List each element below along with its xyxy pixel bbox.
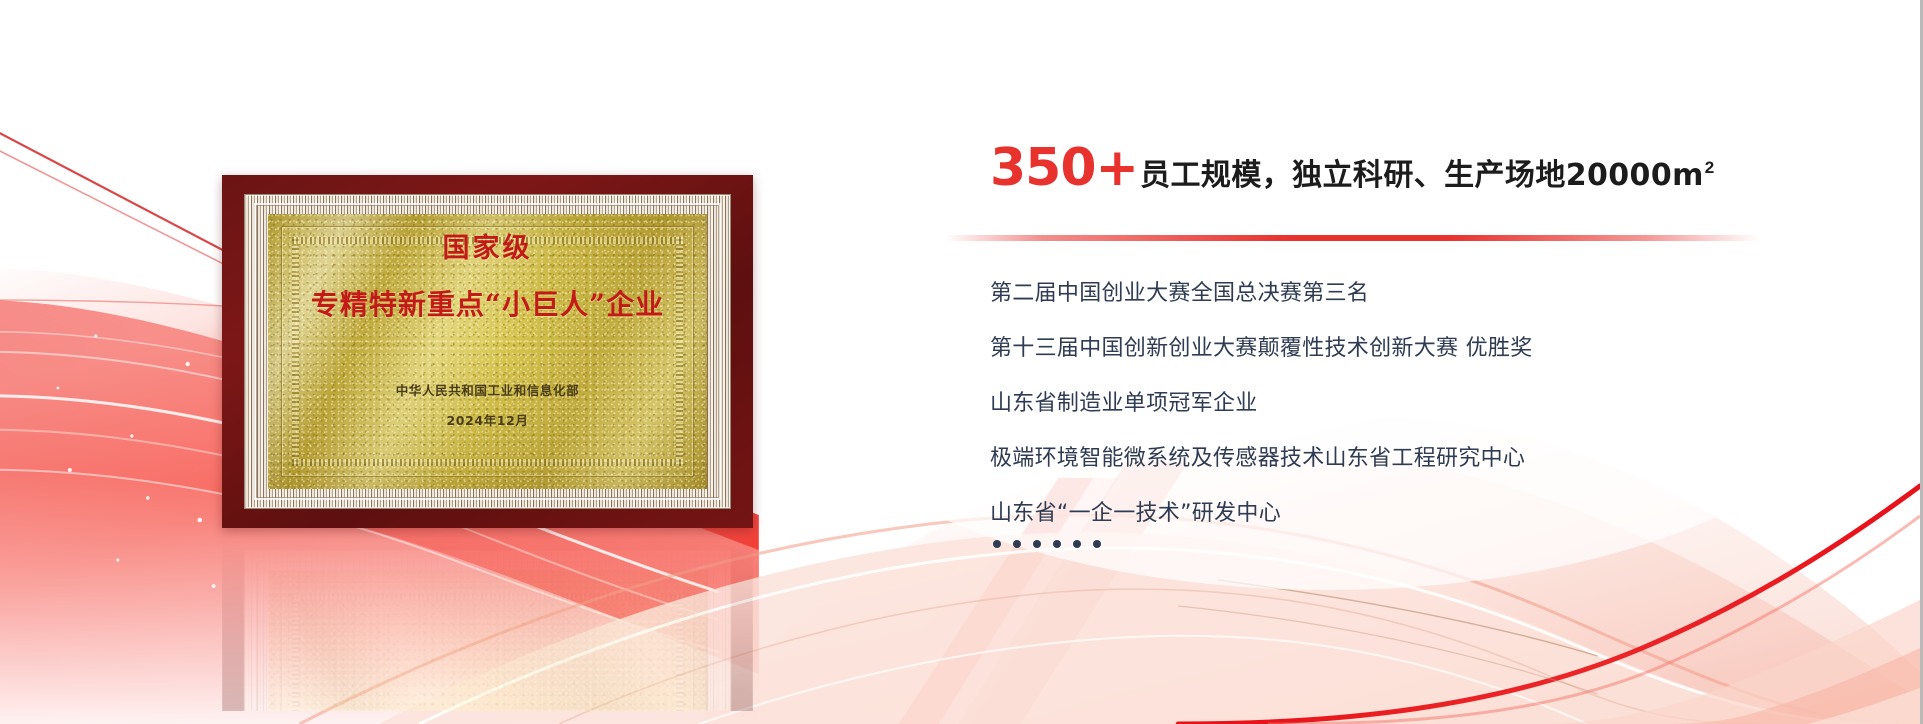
list-item: 第十三届中国创新创业大赛颠覆性技术创新大赛 优胜奖 <box>990 338 1820 360</box>
dot-icon <box>1053 540 1061 548</box>
list-item: 山东省制造业单项冠军企业 <box>990 393 1820 415</box>
dot-icon <box>1093 540 1101 548</box>
dot-icon <box>1013 540 1021 548</box>
awards-list: 第二届中国创业大赛全国总决赛第三名 第十三届中国创新创业大赛颠覆性技术创新大赛 … <box>990 283 1820 558</box>
headline-superscript: 2 <box>1705 159 1714 176</box>
list-item: 极端环境智能微系统及传感器技术山东省工程研究中心 <box>990 448 1820 470</box>
award-banner: 国家级 专精特新重点“小巨人”企业 中华人民共和国工业和信息化部 2024年12… <box>0 0 1923 724</box>
ellipsis-dots <box>993 540 1101 548</box>
plaque-reflection <box>222 531 753 711</box>
plaque-date: 2024年12月 <box>447 410 529 429</box>
dot-icon <box>1073 540 1081 548</box>
content-column: 350+ 员工规模，独立科研、生产场地20000m 2 第二届中国创业大赛全国总… <box>990 142 1820 194</box>
plaque-outer-frame: 国家级 专精特新重点“小巨人”企业 中华人民共和国工业和信息化部 2024年12… <box>222 175 753 528</box>
plaque-issuer: 中华人民共和国工业和信息化部 <box>396 380 579 399</box>
red-divider-line <box>945 235 1760 241</box>
dot-icon <box>993 540 1001 548</box>
plaque-title-line2: 专精特新重点“小巨人”企业 <box>311 283 664 323</box>
plaque-inscription: 国家级 专精特新重点“小巨人”企业 中华人民共和国工业和信息化部 2024年12… <box>222 175 753 528</box>
headline-number: 350+ <box>990 142 1138 194</box>
headline: 350+ 员工规模，独立科研、生产场地20000m 2 <box>990 142 1820 194</box>
list-item: 第二届中国创业大赛全国总决赛第三名 <box>990 283 1820 305</box>
award-plaque: 国家级 专精特新重点“小巨人”企业 中华人民共和国工业和信息化部 2024年12… <box>222 175 753 528</box>
list-item: 山东省“一企一技术”研发中心 <box>990 503 1820 525</box>
headline-text: 员工规模，独立科研、生产场地20000m <box>1140 161 1704 191</box>
plaque-title-line1: 国家级 <box>443 226 533 265</box>
dot-icon <box>1033 540 1041 548</box>
